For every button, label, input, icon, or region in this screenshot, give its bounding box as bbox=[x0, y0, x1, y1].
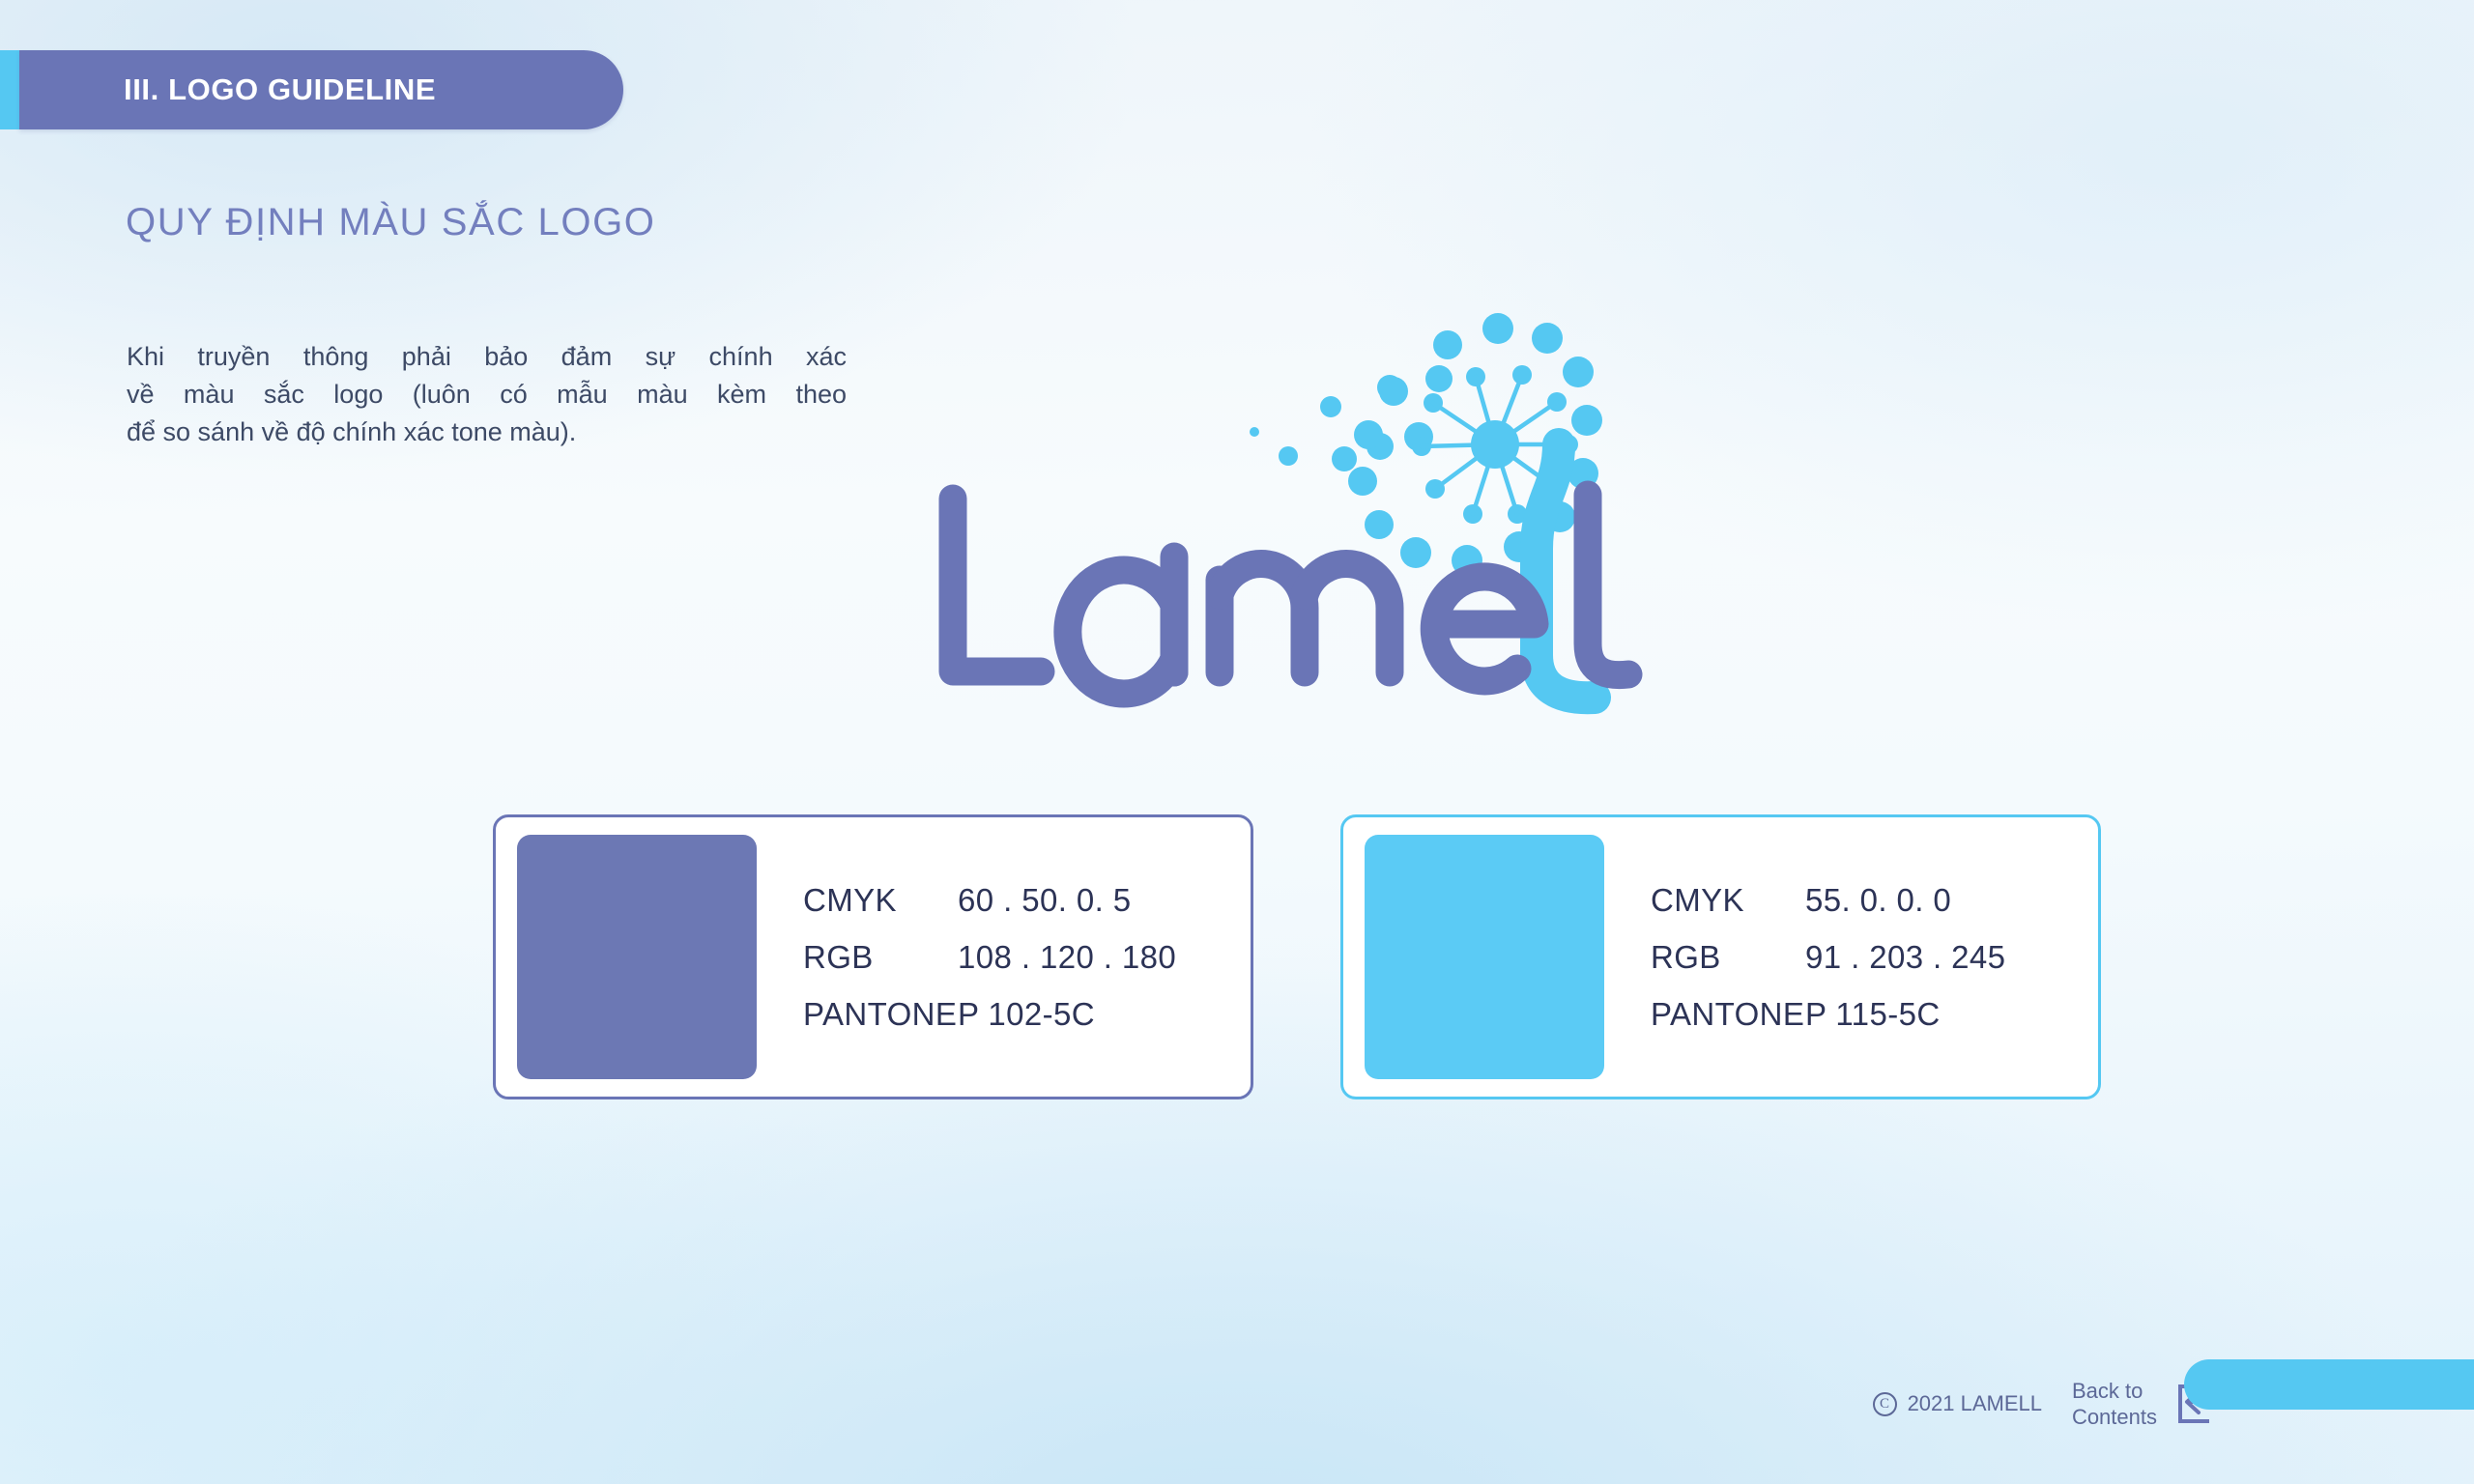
color-swatch-primary bbox=[517, 835, 757, 1079]
description-line-3: để so sánh về độ chính xác tone màu). bbox=[127, 414, 847, 451]
color-card-secondary: CMYK 55. 0. 0. 0 RGB 91 . 203 . 245 PANT… bbox=[1340, 814, 2101, 1099]
spec-label-cmyk: CMYK bbox=[803, 882, 958, 919]
spec-row-pantone: PANTONE P 102-5C bbox=[803, 996, 1176, 1033]
back-to-contents-label: Back to Contents bbox=[2072, 1378, 2157, 1430]
header-title: III. LOGO GUIDELINE bbox=[124, 72, 436, 107]
spec-value-rgb: 108 . 120 . 180 bbox=[958, 939, 1176, 976]
lamell-logo bbox=[918, 290, 1711, 734]
footer-copyright: C 2021 LAMELL bbox=[1873, 1391, 2042, 1416]
color-spec-table-primary: CMYK 60 . 50. 0. 5 RGB 108 . 120 . 180 P… bbox=[803, 882, 1176, 1033]
dandelion-core bbox=[1471, 420, 1519, 469]
spec-row-rgb: RGB 91 . 203 . 245 bbox=[1651, 939, 2005, 976]
copyright-text: 2021 LAMELL bbox=[1908, 1391, 2042, 1416]
spec-row-cmyk: CMYK 55. 0. 0. 0 bbox=[1651, 882, 2005, 919]
spec-row-rgb: RGB 108 . 120 . 180 bbox=[803, 939, 1176, 976]
page-title: QUY ĐỊNH MÀU SẮC LOGO bbox=[126, 201, 656, 244]
spec-label-rgb: RGB bbox=[1651, 939, 1805, 976]
spec-value-cmyk: 55. 0. 0. 0 bbox=[1805, 882, 1951, 919]
spec-value-rgb: 91 . 203 . 245 bbox=[1805, 939, 2005, 976]
description-line-2: về màu sắc logo (luôn có mẫu màu kèm the… bbox=[127, 376, 847, 414]
footer-accent-bar bbox=[2184, 1359, 2474, 1410]
spec-row-pantone: PANTONE P 115-5C bbox=[1651, 996, 2005, 1033]
spec-value-cmyk: 60 . 50. 0. 5 bbox=[958, 882, 1132, 919]
spec-label-rgb: RGB bbox=[803, 939, 958, 976]
color-swatch-secondary bbox=[1365, 835, 1604, 1079]
description-line-1: Khi truyền thông phải bảo đảm sự chính x… bbox=[127, 338, 847, 376]
spec-value-pantone: P 102-5C bbox=[958, 996, 1095, 1033]
header-accent-bar bbox=[0, 50, 19, 129]
spec-value-pantone: P 115-5C bbox=[1805, 996, 1941, 1033]
section-header-tab: III. LOGO GUIDELINE bbox=[0, 50, 623, 129]
description-text: Khi truyền thông phải bảo đảm sự chính x… bbox=[127, 338, 847, 451]
spec-row-cmyk: CMYK 60 . 50. 0. 5 bbox=[803, 882, 1176, 919]
spec-label-pantone: PANTONE bbox=[803, 996, 958, 1033]
color-spec-table-secondary: CMYK 55. 0. 0. 0 RGB 91 . 203 . 245 PANT… bbox=[1651, 882, 2005, 1033]
spec-label-pantone: PANTONE bbox=[1651, 996, 1805, 1033]
spec-label-cmyk: CMYK bbox=[1651, 882, 1805, 919]
logo-artwork bbox=[918, 290, 1711, 734]
color-card-primary: CMYK 60 . 50. 0. 5 RGB 108 . 120 . 180 P… bbox=[493, 814, 1253, 1099]
copyright-icon: C bbox=[1873, 1392, 1897, 1416]
